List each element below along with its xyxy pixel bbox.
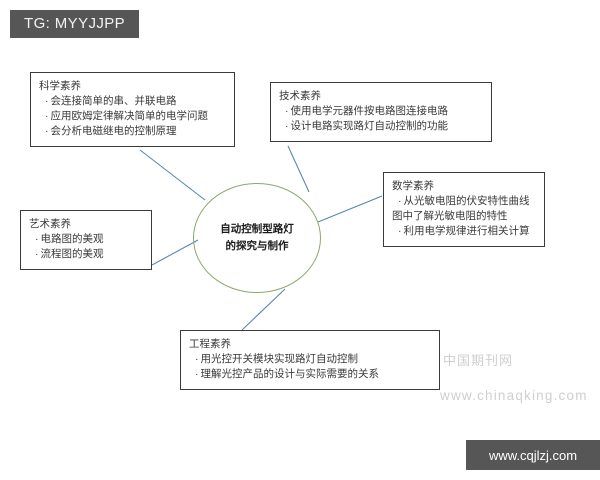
footer-url-badge: www.cqjlzj.com: [466, 440, 600, 470]
list-item: 会连接简单的串、并联电路: [39, 94, 226, 109]
node-math-title: 数学素养: [392, 179, 536, 194]
list-item: 利用电学规律进行相关计算: [392, 224, 536, 239]
list-item: 流程图的美观: [29, 247, 143, 262]
center-node-label: 自动控制型路灯的探究与制作: [216, 221, 298, 255]
node-science[interactable]: 科学素养 会连接简单的串、并联电路 应用欧姆定律解决简单的电学问题 会分析电磁继…: [30, 72, 235, 147]
list-item: 使用电学元器件按电路图连接电路: [279, 104, 483, 119]
node-tech-title: 技术素养: [279, 89, 483, 104]
list-item: 用光控开关模块实现路灯自动控制: [189, 352, 431, 367]
node-art-list: 电路图的美观 流程图的美观: [29, 232, 143, 262]
list-item: 会分析电磁继电的控制原理: [39, 124, 226, 139]
node-art-title: 艺术素养: [29, 217, 143, 232]
node-engineering[interactable]: 工程素养 用光控开关模块实现路灯自动控制 理解光控产品的设计与实际需要的关系: [180, 330, 440, 390]
list-item: 电路图的美观: [29, 232, 143, 247]
node-tech-list: 使用电学元器件按电路图连接电路 设计电路实现路灯自动控制的功能: [279, 104, 483, 134]
watermark-site-name: 中国期刊网: [443, 350, 513, 369]
diagram-canvas: TG: MYYJJPP 科学素养 会连接简单的串、并联电路 应用欧姆定律解决简单…: [0, 0, 600, 480]
node-science-list: 会连接简单的串、并联电路 应用欧姆定律解决简单的电学问题 会分析电磁继电的控制原…: [39, 94, 226, 139]
node-math[interactable]: 数学素养 从光敏电阻的伏安特性曲线 图中了解光敏电阻的特性 利用电学规律进行相关…: [383, 172, 545, 247]
list-item: 从光敏电阻的伏安特性曲线: [392, 194, 536, 209]
tag-badge: TG: MYYJJPP: [10, 10, 139, 38]
connector-eng: [242, 289, 285, 330]
connector-tech: [288, 146, 309, 192]
node-art[interactable]: 艺术素养 电路图的美观 流程图的美观: [20, 210, 152, 270]
connector-math: [318, 196, 382, 222]
connector-art: [152, 240, 198, 265]
list-item: 应用欧姆定律解决简单的电学问题: [39, 109, 226, 124]
node-engineering-title: 工程素养: [189, 337, 431, 352]
connector-science: [140, 150, 205, 200]
watermark-site-url: www.chinaqking.com: [440, 388, 588, 403]
node-science-title: 科学素养: [39, 79, 226, 94]
list-item: 理解光控产品的设计与实际需要的关系: [189, 367, 431, 382]
node-engineering-list: 用光控开关模块实现路灯自动控制 理解光控产品的设计与实际需要的关系: [189, 352, 431, 382]
node-tech[interactable]: 技术素养 使用电学元器件按电路图连接电路 设计电路实现路灯自动控制的功能: [270, 82, 492, 142]
node-math-list: 从光敏电阻的伏安特性曲线 图中了解光敏电阻的特性 利用电学规律进行相关计算: [392, 194, 536, 239]
center-node[interactable]: 自动控制型路灯的探究与制作: [193, 183, 321, 293]
list-item: 设计电路实现路灯自动控制的功能: [279, 119, 483, 134]
list-item-continuation: 图中了解光敏电阻的特性: [392, 209, 536, 224]
